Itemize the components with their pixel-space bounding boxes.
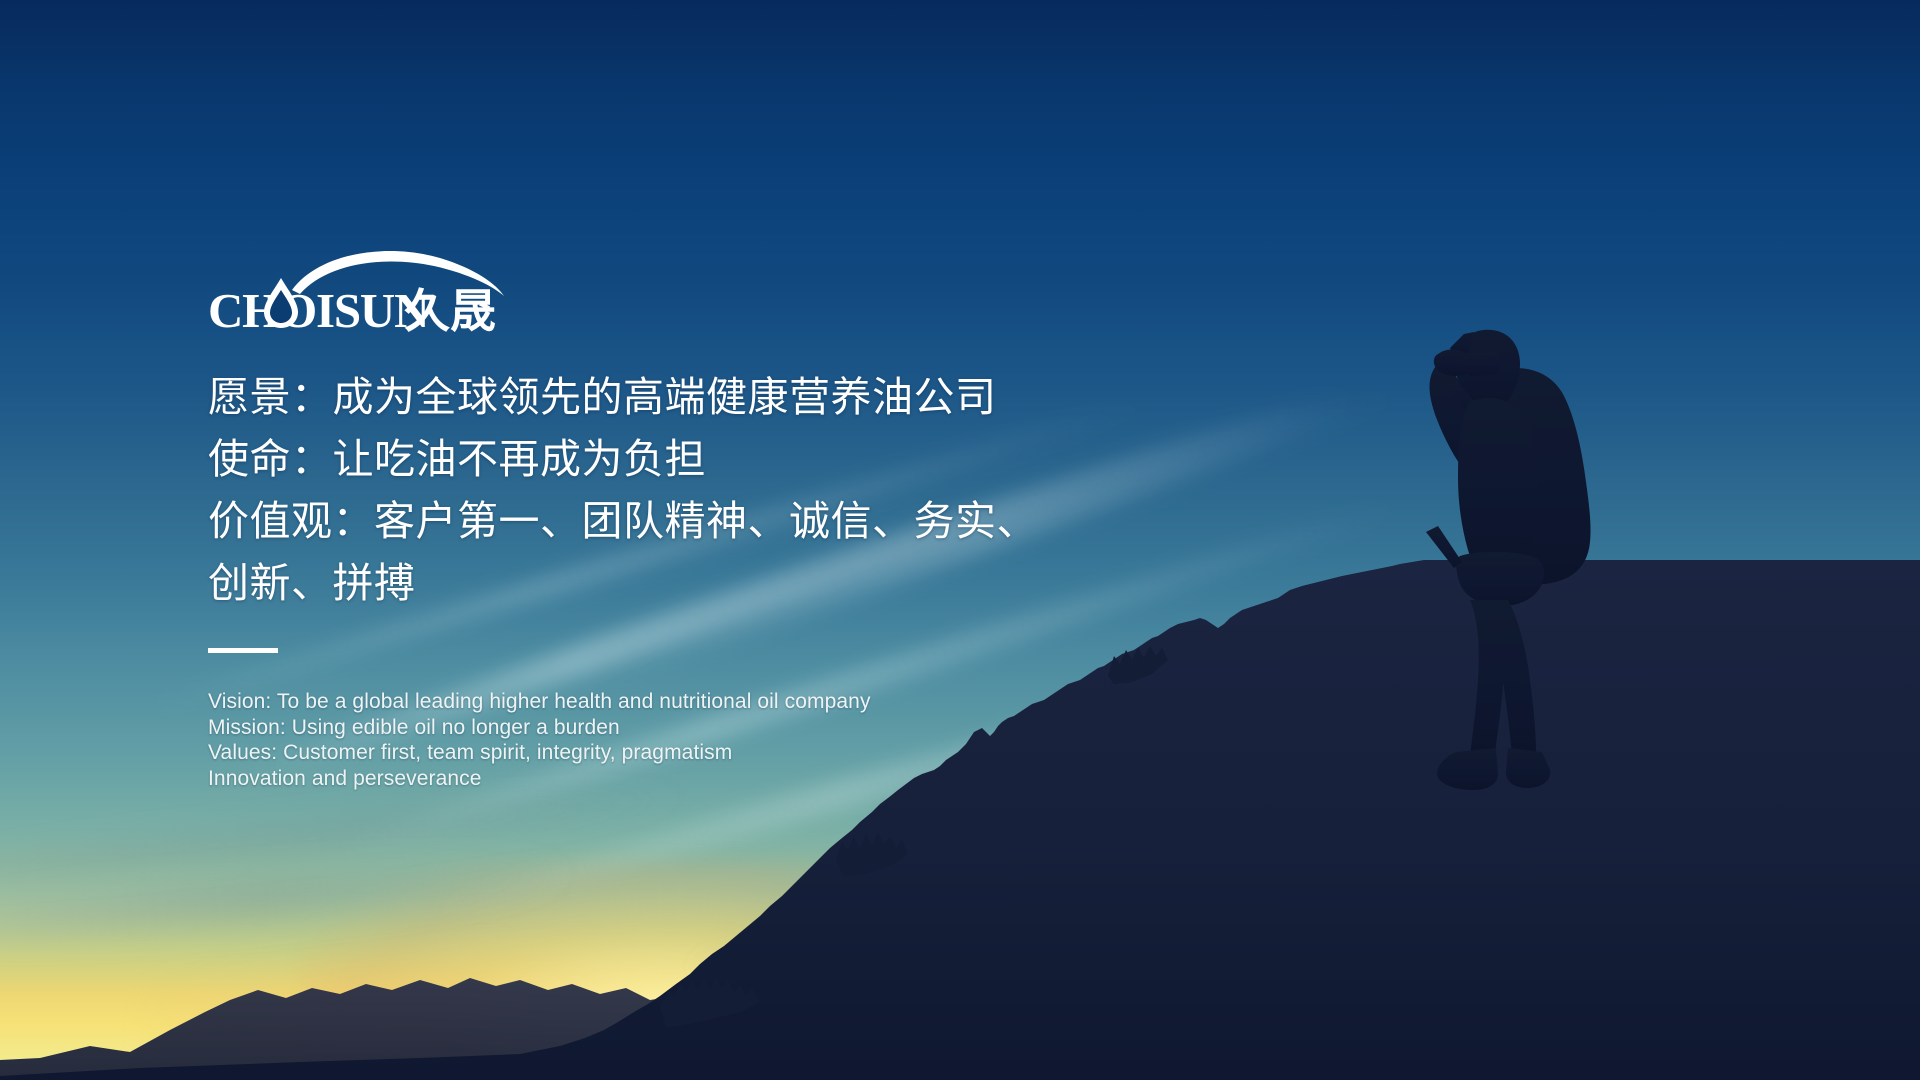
banner-stage: CHOISUN 久晟 愿景：成为全球领先的高端健康营养油公司 使命：让吃油不再成… [0, 0, 1920, 1080]
values-line-en-continued: Innovation and perseverance [208, 766, 1108, 792]
values-line-cn: 价值观：客户第一、团队精神、诚信、务实、 [208, 490, 1108, 552]
hip-shape [1456, 552, 1544, 606]
trekking-pole-icon [1426, 526, 1462, 568]
left-boot-shape [1437, 748, 1498, 790]
torso-shape [1458, 398, 1538, 568]
wordmark-latin: CHOISUN [208, 283, 429, 338]
values-line-en: Values: Customer first, team spirit, int… [208, 740, 1108, 766]
wordmark-cn: 久晟 [404, 284, 496, 338]
vision-line-en: Vision: To be a global leading higher he… [208, 689, 1108, 715]
right-boot-shape [1506, 748, 1550, 788]
english-statement-block: Vision: To be a global leading higher he… [208, 689, 1108, 791]
vision-line-cn: 愿景：成为全球领先的高端健康营养油公司 [208, 366, 1108, 428]
choisun-logo[interactable]: CHOISUN 久晟 [208, 248, 1108, 340]
values-line-cn-continued: 创新、拼搏 [208, 552, 1108, 614]
hiker-with-backpack-silhouette [1378, 318, 1638, 828]
content-block: CHOISUN 久晟 愿景：成为全球领先的高端健康营养油公司 使命：让吃油不再成… [208, 248, 1108, 791]
chinese-statement-block: 愿景：成为全球领先的高端健康营养油公司 使命：让吃油不再成为负担 价值观：客户第… [208, 366, 1108, 614]
mission-line-en: Mission: Using edible oil no longer a bu… [208, 715, 1108, 741]
section-divider [208, 648, 278, 653]
mission-line-cn: 使命：让吃油不再成为负担 [208, 428, 1108, 490]
